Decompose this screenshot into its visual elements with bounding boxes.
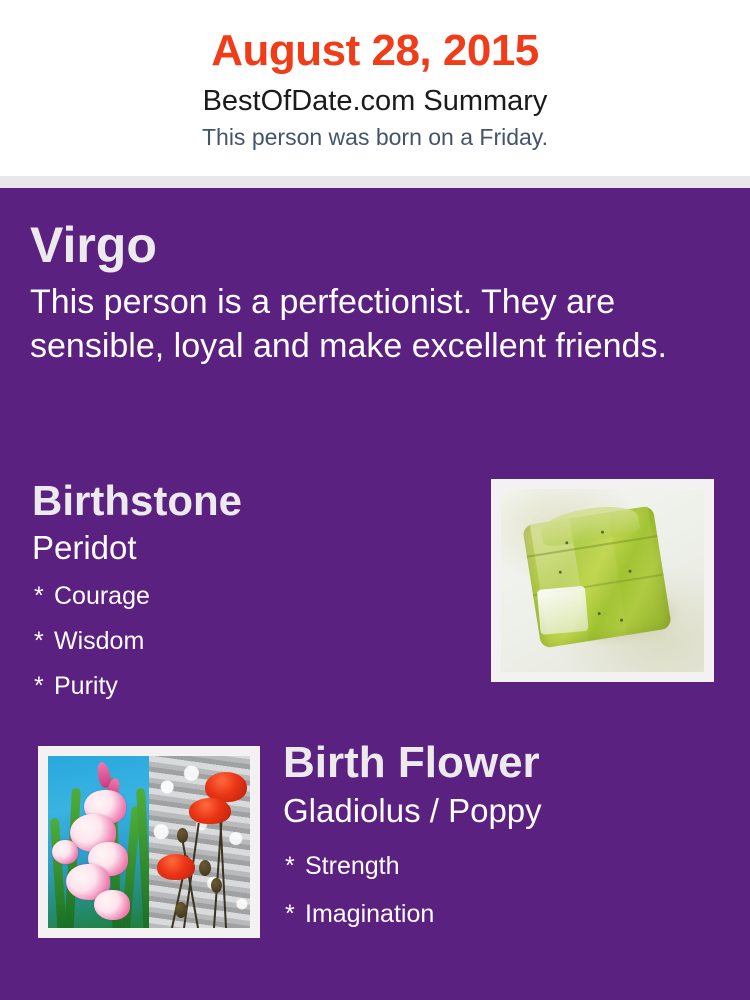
page-title-date: August 28, 2015	[0, 0, 750, 78]
born-day-text: This person was born on a Friday.	[0, 120, 750, 152]
page-header: August 28, 2015 BestOfDate.com Summary T…	[0, 0, 750, 176]
trait-label: Courage	[54, 582, 150, 610]
bullet-glyph: *	[34, 574, 54, 619]
poppy-photo-half	[149, 756, 250, 928]
birth-flower-section: Birth Flower Gladiolus / Poppy *Strength…	[283, 736, 733, 938]
birth-flower-photo-frame	[38, 746, 260, 938]
poppy-bud	[199, 860, 211, 876]
gladiolus-photo-half	[48, 756, 149, 928]
poppy-bloom	[189, 798, 231, 824]
poppy-bud	[177, 828, 188, 843]
bullet-glyph: *	[285, 890, 305, 938]
bullet-glyph: *	[285, 842, 305, 890]
trait-label: Purity	[54, 672, 118, 700]
list-item: *Courage	[34, 574, 472, 619]
peridot-gemstone-image	[501, 489, 704, 672]
zodiac-sign-name: Virgo	[30, 216, 670, 274]
poppy-bloom	[157, 854, 195, 880]
gem-inclusion	[559, 570, 562, 573]
bestofdate-summary-card: August 28, 2015 BestOfDate.com Summary T…	[0, 0, 750, 1000]
birthstone-heading: Birthstone	[32, 476, 472, 526]
birthstone-section: Birthstone Peridot *Courage *Wisdom *Pur…	[32, 476, 472, 709]
gladiolus-and-poppy-image	[48, 756, 250, 928]
list-item: *Strength	[285, 842, 733, 890]
peridot-crystal	[522, 505, 672, 648]
birth-flower-trait-list: *Strength *Imagination	[283, 832, 733, 938]
birth-flower-heading: Birth Flower	[283, 736, 733, 790]
list-item: *Purity	[34, 664, 472, 709]
birthstone-photo-frame	[491, 479, 714, 682]
header-divider	[0, 176, 750, 188]
list-item: *Imagination	[285, 890, 733, 938]
trait-label: Strength	[305, 852, 400, 880]
gladiolus-bloom	[94, 890, 130, 920]
birthstone-name: Peridot	[32, 526, 472, 568]
gem-inclusion	[628, 569, 631, 572]
bullet-glyph: *	[34, 664, 54, 709]
summary-panel: Virgo This person is a perfectionist. Th…	[0, 188, 750, 1000]
trait-label: Imagination	[305, 900, 434, 928]
site-name: BestOfDate.com Summary	[0, 78, 750, 120]
bullet-glyph: *	[34, 619, 54, 664]
trait-label: Wisdom	[54, 627, 144, 655]
gladiolus-bloom	[52, 840, 78, 864]
gem-inclusion	[597, 612, 600, 615]
poppy-bud	[211, 878, 222, 893]
birthstone-trait-list: *Courage *Wisdom *Purity	[32, 568, 472, 709]
zodiac-description: This person is a perfectionist. They are…	[30, 274, 670, 368]
birth-flower-name: Gladiolus / Poppy	[283, 790, 733, 832]
poppy-bud	[175, 902, 187, 918]
leaf	[136, 788, 149, 928]
gem-inclusion	[620, 618, 623, 621]
zodiac-section: Virgo This person is a perfectionist. Th…	[30, 216, 670, 368]
list-item: *Wisdom	[34, 619, 472, 664]
gem-highlight	[537, 586, 588, 635]
